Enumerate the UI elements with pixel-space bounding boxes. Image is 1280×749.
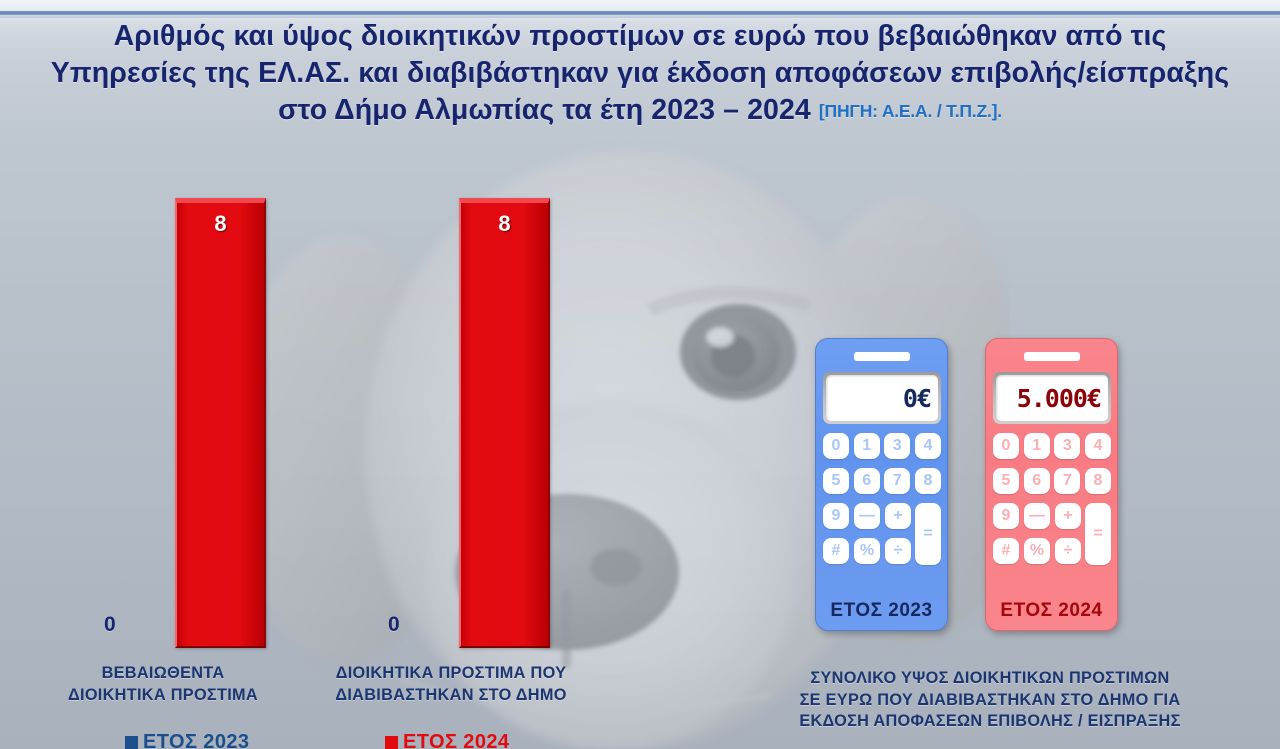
category-label-1-line-1: ΔΙΟΙΚΗΤΙΚΑ ΠΡΟΣΤΙΜΑ ΠΟΥ [300,663,602,685]
legend-item-2023[interactable]: ΕΤΟΣ 2023 [125,731,249,749]
calculator-2023[interactable]: 0€ 0 1 3 4 5 6 7 8 9 — + # % [815,338,948,631]
key-4[interactable]: 4 [1085,433,1111,459]
key-minus[interactable]: — [1024,503,1050,529]
right-caption-line-2: ΣΕ ΕΥΡΩ ΠΟΥ ΔΙΑΒΙΒΑΣΤΗΚΑΝ ΣΤΟ ΔΗΜΟ ΓΙΑ [700,690,1280,712]
calculator-display-2023: 0€ [826,375,938,421]
calculator-display-2024: 5.000€ [996,375,1108,421]
key-6[interactable]: 6 [1024,468,1050,494]
keypad-row-1: 0 1 3 4 [993,433,1111,459]
key-divide[interactable]: ÷ [1055,538,1081,564]
legend-label-2024: ΕΤΟΣ 2024 [403,731,509,749]
key-0[interactable]: 0 [993,433,1019,459]
slide-title: Αριθμός και ύψος διοικητικών προστίμων σ… [0,18,1280,128]
keypad-row-2: 5 6 7 8 [823,468,941,494]
key-plus[interactable]: + [885,503,911,529]
key-1[interactable]: 1 [1024,433,1050,459]
key-4[interactable]: 4 [915,433,941,459]
keypad-row-4: # % ÷ [993,538,1081,564]
calculator-display-value-2023: 0€ [903,384,931,413]
key-6[interactable]: 6 [854,468,880,494]
calculator-2024[interactable]: 5.000€ 0 1 3 4 5 6 7 8 9 — + # [985,338,1118,631]
key-5[interactable]: 5 [993,468,1019,494]
bar-value-zero-2023-category-1: 0 [388,613,400,637]
key-plus[interactable]: + [1055,503,1081,529]
key-3[interactable]: 3 [1054,433,1080,459]
key-0[interactable]: 0 [823,433,849,459]
key-5[interactable]: 5 [823,468,849,494]
key-equals[interactable]: = [915,503,941,565]
key-8[interactable]: 8 [1085,468,1111,494]
key-9[interactable]: 9 [993,503,1019,529]
key-8[interactable]: 8 [915,468,941,494]
keypad-row-2: 5 6 7 8 [993,468,1111,494]
title-source-note: [ΠΗΓΗ: Α.Ε.Α. / Τ.Π.Ζ.]. [819,101,1002,121]
key-percent[interactable]: % [854,538,880,564]
calculator-label-2024: ΕΤΟΣ 2024 [986,600,1117,622]
key-1[interactable]: 1 [854,433,880,459]
key-divide[interactable]: ÷ [885,538,911,564]
legend-swatch-icon-2024 [385,736,398,749]
key-hash[interactable]: # [993,538,1019,564]
calculator-keypad-2023[interactable]: 0 1 3 4 5 6 7 8 9 — + # % ÷ = [823,433,941,593]
category-label-0-line-2: ΔΙΟΙΚΗΤΙΚΑ ΠΡΟΣΤΙΜΑ [18,685,308,707]
legend-item-2024[interactable]: ΕΤΟΣ 2024 [385,731,509,749]
speaker-slot-icon [1024,352,1080,361]
key-7[interactable]: 7 [1054,468,1080,494]
slide-canvas: Αριθμός και ύψος διοικητικών προστίμων σ… [0,0,1280,749]
title-line-2: Υπηρεσίες της ΕΛ.ΑΣ. και διαβιβάστηκαν γ… [0,55,1280,92]
bar-2024-category-0[interactable]: 8 [175,198,266,648]
right-panel-caption: ΣΥΝΟΛΙΚΟ ΥΨΟΣ ΔΙΟΙΚΗΤΙΚΩΝ ΠΡΟΣΤΙΜΩΝ ΣΕ Ε… [700,668,1280,733]
keypad-row-4: # % ÷ [823,538,911,564]
legend-swatch-icon-2023 [125,736,138,749]
key-hash[interactable]: # [823,538,849,564]
title-line-3: στο Δήμο Αλμωπίας τα έτη 2023 – 2024 [278,94,811,126]
key-percent[interactable]: % [1024,538,1050,564]
title-line-3-wrapper: στο Δήμο Αλμωπίας τα έτη 2023 – 2024 [ΠΗ… [0,92,1280,129]
calculator-screen-bezel: 0€ [823,372,941,424]
keypad-row-3: 9 — + [993,503,1081,529]
legend-label-2023: ΕΤΟΣ 2023 [143,731,249,749]
bar-2024-category-1[interactable]: 8 [459,198,550,648]
category-label-1: ΔΙΟΙΚΗΤΙΚΑ ΠΡΟΣΤΙΜΑ ΠΟΥ ΔΙΑΒΙΒΑΣΤΗΚΑΝ ΣΤ… [300,663,602,706]
calculator-keypad-2024[interactable]: 0 1 3 4 5 6 7 8 9 — + # % ÷ = [993,433,1111,593]
category-label-1-line-2: ΔΙΑΒΙΒΑΣΤΗΚΑΝ ΣΤΟ ΔΗΜΟ [300,685,602,707]
key-7[interactable]: 7 [884,468,910,494]
speaker-slot-icon [854,352,910,361]
key-3[interactable]: 3 [884,433,910,459]
bar-value-label: 8 [177,211,264,237]
calculator-screen-bezel: 5.000€ [993,372,1111,424]
category-label-0-line-1: ΒΕΒΑΙΩΘΕΝΤΑ [18,663,308,685]
bar-value-label: 8 [461,211,548,237]
key-equals[interactable]: = [1085,503,1111,565]
keypad-row-3: 9 — + [823,503,911,529]
title-line-1: Αριθμός και ύψος διοικητικών προστίμων σ… [0,18,1280,55]
calculator-display-value-2024: 5.000€ [1017,384,1101,413]
bar-value-zero-2023-category-0: 0 [104,613,116,637]
category-label-0: ΒΕΒΑΙΩΘΕΝΤΑ ΔΙΟΙΚΗΤΙΚΑ ΠΡΟΣΤΙΜΑ [18,663,308,706]
right-caption-line-1: ΣΥΝΟΛΙΚΟ ΥΨΟΣ ΔΙΟΙΚΗΤΙΚΩΝ ΠΡΟΣΤΙΜΩΝ [700,668,1280,690]
key-9[interactable]: 9 [823,503,849,529]
keypad-row-1: 0 1 3 4 [823,433,941,459]
right-caption-line-3: ΕΚΔΟΣΗ ΑΠΟΦΑΣΕΩΝ ΕΠΙΒΟΛΗΣ / ΕΙΣΠΡΑΞΗΣ [700,711,1280,733]
key-minus[interactable]: — [854,503,880,529]
calculator-label-2023: ΕΤΟΣ 2023 [816,600,947,622]
